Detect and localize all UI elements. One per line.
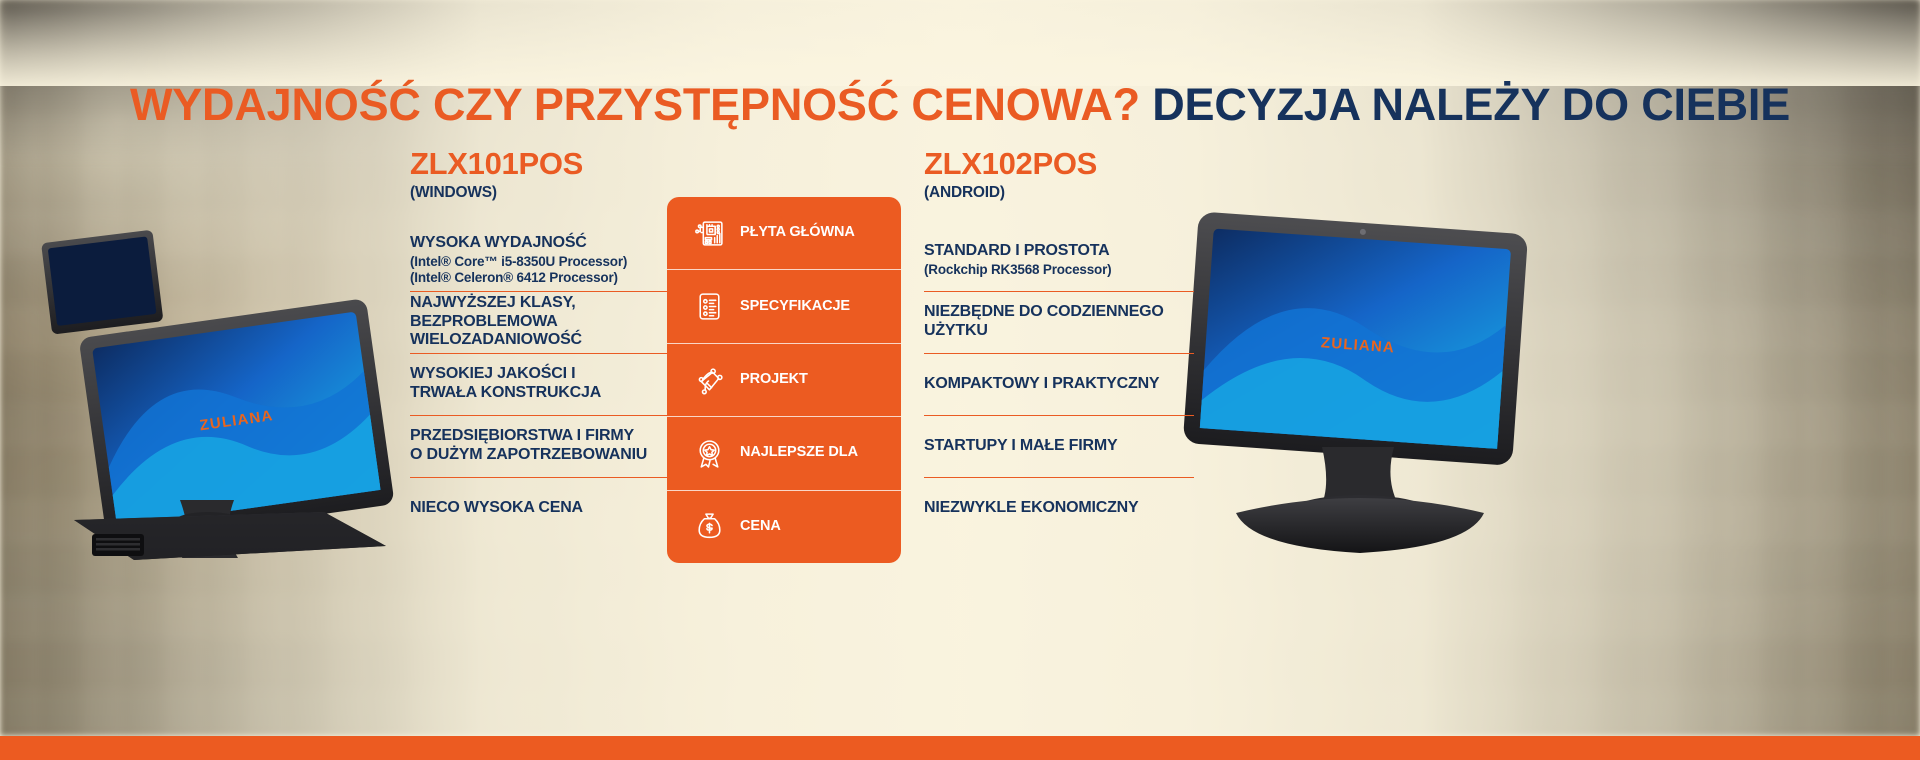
feature-subtitle: (Rockchip RK3568 Processor) — [924, 262, 1194, 278]
criteria-label: PROJEKT — [740, 372, 808, 388]
feature-title: NIECO WYSOKA CENA — [410, 499, 672, 518]
left-product-model: ZLX101POS — [410, 148, 672, 181]
feature-title: PRZEDSIĘBIORSTWA I FIRMYO DUŻYM ZAPOTRZE… — [410, 427, 672, 465]
right-feature-item: NIEZWYKLE EKONOMICZNY — [924, 478, 1194, 540]
pos-device-zlx102-image: ZULIANA — [1180, 195, 1550, 565]
feature-title: WYSOKA WYDAJNOŚĆ — [410, 234, 672, 253]
right-feature-item: KOMPAKTOWY I PRAKTYCZNY — [924, 354, 1194, 416]
left-product-os: (WINDOWS) — [410, 184, 672, 202]
headline-question: WYDAJNOŚĆ CZY PRZYSTĘPNOŚĆ CENOWA? — [130, 79, 1140, 130]
headline-answer: DECYZJA NALEŻY DO CIEBIE — [1152, 79, 1790, 130]
feature-title: NIEZWYKLE EKONOMICZNY — [924, 499, 1194, 518]
feature-title: STANDARD I PROSTOTA — [924, 242, 1194, 261]
right-feature-item: STANDARD I PROSTOTA (Rockchip RK3568 Pro… — [924, 230, 1194, 292]
criteria-row-design: PROJEKT — [667, 344, 901, 417]
criteria-row-price: CENA — [667, 491, 901, 563]
feature-subtitle: (Intel® Core™ i5-8350U Processor)(Intel®… — [410, 254, 672, 286]
right-product-model: ZLX102POS — [924, 148, 1194, 181]
right-feature-item: NIEZBĘDNE DO CODZIENNEGOUŻYTKU — [924, 292, 1194, 354]
left-feature-list: WYSOKA WYDAJNOŚĆ (Intel® Core™ i5-8350U … — [410, 230, 672, 540]
background-top-fade — [0, 0, 1920, 86]
award-ribbon-icon — [693, 437, 726, 470]
feature-title: STARTUPY I MAŁE FIRMY — [924, 437, 1194, 456]
left-feature-item: NAJWYŻSZEJ KLASY,BEZPROBLEMOWAWIELOZADAN… — [410, 292, 672, 354]
feature-title: NAJWYŻSZEJ KLASY,BEZPROBLEMOWAWIELOZADAN… — [410, 294, 672, 351]
left-feature-item: WYSOKIEJ JAKOŚCI ITRWAŁA KONSTRUKCJA — [410, 354, 672, 416]
feature-title: WYSOKIEJ JAKOŚCI ITRWAŁA KONSTRUKCJA — [410, 365, 672, 403]
comparison-criteria-panel: PŁYTA GŁÓWNA SPECYFIKACJE PROJE — [667, 197, 901, 563]
feature-title: KOMPAKTOWY I PRAKTYCZNY — [924, 375, 1194, 394]
right-feature-item: STARTUPY I MAŁE FIRMY — [924, 416, 1194, 478]
checklist-icon — [693, 290, 726, 323]
criteria-label: PŁYTA GŁÓWNA — [740, 225, 855, 241]
right-product-os: (ANDROID) — [924, 184, 1194, 202]
criteria-label: CENA — [740, 519, 781, 535]
criteria-row-best-for: NAJLEPSZE DLA — [667, 417, 901, 490]
right-feature-list: STANDARD I PROSTOTA (Rockchip RK3568 Pro… — [924, 230, 1194, 540]
criteria-label: NAJLEPSZE DLA — [740, 445, 858, 461]
left-feature-item: WYSOKA WYDAJNOŚĆ (Intel® Core™ i5-8350U … — [410, 230, 672, 292]
page-title: WYDAJNOŚĆ CZY PRZYSTĘPNOŚĆ CENOWA? DECYZ… — [0, 79, 1920, 131]
pen-tool-icon — [693, 364, 726, 397]
criteria-label: SPECYFIKACJE — [740, 299, 850, 315]
criteria-row-specifications: SPECYFIKACJE — [667, 270, 901, 343]
money-bag-icon — [693, 510, 726, 543]
left-feature-item: NIECO WYSOKA CENA — [410, 478, 672, 540]
left-product-column: ZLX101POS (WINDOWS) WYSOKA WYDAJNOŚĆ (In… — [410, 148, 672, 540]
feature-title: NIEZBĘDNE DO CODZIENNEGOUŻYTKU — [924, 303, 1194, 341]
bottom-accent-bar — [0, 736, 1920, 760]
criteria-row-motherboard: PŁYTA GŁÓWNA — [667, 197, 901, 270]
left-feature-item: PRZEDSIĘBIORSTWA I FIRMYO DUŻYM ZAPOTRZE… — [410, 416, 672, 478]
pos-device-zlx101-image: ZULIANA — [30, 200, 400, 560]
right-product-column: ZLX102POS (ANDROID) STANDARD I PROSTOTA … — [924, 148, 1194, 540]
motherboard-icon — [693, 217, 726, 250]
